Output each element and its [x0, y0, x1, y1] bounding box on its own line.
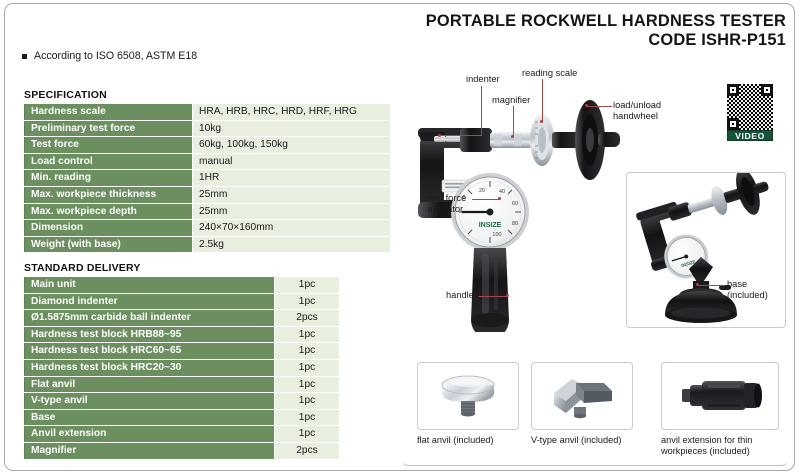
table-row: V-type anvil 1pc [25, 393, 340, 410]
indenter-part [446, 136, 462, 142]
callout-handle-label: handle [446, 290, 474, 301]
spec-value: 10kg [193, 120, 391, 137]
base-inset-panel: INSIZE base (included) [626, 172, 786, 328]
caption-line-1: anvil extension for thin [661, 435, 752, 446]
caption-line-1: V-type anvil (included) [531, 435, 621, 446]
delivery-qty: 1pc [275, 426, 340, 443]
spec-label: Load control [25, 153, 193, 170]
table-row: Magnifier 2pcs [25, 442, 340, 459]
svg-text:100: 100 [492, 232, 501, 238]
dial-brand-logo: INSIZE [479, 222, 502, 229]
table-row: Hardness test block HRC20~30 1pc [25, 359, 340, 376]
table-row: Hardness scale HRA, HRB, HRC, HRD, HRF, … [25, 104, 391, 121]
callout-base-leader [699, 285, 725, 286]
anvil-extension-drawing [662, 363, 778, 429]
specification-heading: SPECIFICATION [24, 89, 107, 101]
spec-label: Hardness scale [25, 104, 193, 121]
delivery-qty: 2pcs [275, 442, 340, 459]
delivery-qty: 1pc [275, 359, 340, 376]
callout-handle-dot [506, 294, 509, 297]
callout-handwheel-leader [588, 106, 612, 107]
spec-label: Max. workpiece thickness [25, 186, 193, 203]
handwheel-knob [598, 132, 620, 147]
table-row: Hardness test block HRC60~65 1pc [25, 343, 340, 360]
callout-base-dot [696, 283, 699, 286]
delivery-label: Ø1.5875mm carbide ball indenter [25, 310, 275, 327]
callout-indenter-label: indenter [466, 74, 500, 85]
video-qr-block[interactable]: VIDEO [727, 84, 773, 141]
table-row: Weight (with base) 2.5kg [25, 236, 391, 253]
delivery-label: V-type anvil [25, 393, 275, 410]
spec-value: manual [193, 153, 391, 170]
spec-label: Test force [25, 137, 193, 154]
caption-line-2: workpieces (included) [661, 446, 752, 457]
table-row: Min. reading 1HR [25, 170, 391, 187]
table-row: Ø1.5875mm carbide ball indenter 2pcs [25, 310, 340, 327]
delivery-qty: 1pc [275, 393, 340, 410]
callout-base-line1: base [727, 279, 768, 290]
callout-base-line2: (included) [727, 290, 768, 301]
table-row: Anvil extension 1pc [25, 426, 340, 443]
table-row: Hardness test block HRB88~95 1pc [25, 326, 340, 343]
callout-indenter-dot [438, 134, 441, 137]
delivery-qty: 2pcs [275, 310, 340, 327]
qr-code-icon[interactable] [727, 84, 773, 130]
callout-handwheel-label: load/unload handwheel [613, 100, 661, 121]
table-row: Preliminary test force 10kg [25, 120, 391, 137]
delivery-label: Hardness test block HRC20~30 [25, 359, 275, 376]
callout-indenter-leader [481, 86, 482, 136]
delivery-qty: 1pc [275, 376, 340, 393]
delivery-label: Flat anvil [25, 376, 275, 393]
table-row: Max. workpiece thickness 25mm [25, 186, 391, 203]
spec-value: 25mm [193, 186, 391, 203]
table-row: Max. workpiece depth 25mm [25, 203, 391, 220]
table-row: Flat anvil 1pc [25, 376, 340, 393]
delivery-qty: 1pc [275, 277, 340, 294]
callout-base-label: base (included) [727, 279, 768, 300]
table-row: Base 1pc [25, 409, 340, 426]
delivery-label: Base [25, 409, 275, 426]
spec-value: 2.5kg [193, 236, 391, 253]
delivery-label: Diamond indenter [25, 293, 275, 310]
table-row: Dimension 240×70×160mm [25, 220, 391, 237]
flat-anvil-drawing [418, 363, 518, 429]
flat-anvil-image [417, 362, 519, 430]
standards-text: According to ISO 6508, ASTM E18 [34, 50, 197, 62]
spec-value: 60kg, 100kg, 150kg [193, 137, 391, 154]
callout-test-force-leader [472, 199, 500, 200]
svg-text:60: 60 [512, 201, 518, 207]
qr-finder-icon [727, 118, 739, 130]
delivery-label: Hardness test block HRB88~95 [25, 326, 275, 343]
callout-indenter-leader-h [441, 135, 482, 136]
bullet-square-icon [22, 54, 27, 59]
callout-magnifier-label: magnifier [492, 95, 530, 106]
callout-test-force-line1: test force [428, 193, 466, 204]
delivery-label: Main unit [25, 277, 275, 294]
table-row: Load control manual [25, 153, 391, 170]
v-type-anvil-drawing [532, 363, 632, 429]
caption-line-1: flat anvil (included) [417, 435, 494, 446]
title-line-1: PORTABLE ROCKWELL HARDNESS TESTER [286, 12, 786, 31]
flat-anvil-caption: flat anvil (included) [417, 435, 494, 446]
anvil-extension-caption: anvil extension for thin workpieces (inc… [661, 435, 752, 457]
delivery-qty: 1pc [275, 343, 340, 360]
callout-reading-scale-dot [540, 120, 543, 123]
delivery-label: Anvil extension [25, 426, 275, 443]
spindle-housing [460, 128, 492, 152]
spec-label: Dimension [25, 220, 193, 237]
delivery-qty: 1pc [275, 409, 340, 426]
callout-handwheel-dot [585, 104, 588, 107]
callout-magnifier-leader [513, 106, 514, 136]
v-type-anvil-caption: V-type anvil (included) [531, 435, 621, 446]
svg-text:40: 40 [499, 189, 505, 195]
callout-test-force-line2: indicator [428, 204, 466, 215]
callout-handle-leader [478, 296, 508, 297]
delivery-label: Hardness test block HRC60~65 [25, 343, 275, 360]
callout-reading-scale-label: reading scale [522, 68, 577, 79]
callout-test-force-label: test force indicator [428, 193, 466, 214]
callout-handwheel-line1: load/unload [613, 100, 661, 111]
qr-finder-icon [761, 84, 773, 96]
spec-value: HRA, HRB, HRC, HRD, HRF, HRG [193, 104, 391, 121]
v-type-anvil-image [531, 362, 633, 430]
delivery-qty: 1pc [275, 326, 340, 343]
callout-magnifier-dot [511, 135, 514, 138]
title-line-2: CODE ISHR-P151 [286, 31, 786, 50]
table-row: Diamond indenter 1pc [25, 293, 340, 310]
qr-finder-icon [727, 84, 739, 96]
spec-label: Preliminary test force [25, 120, 193, 137]
spec-label: Weight (with base) [25, 236, 193, 253]
spec-label: Max. workpiece depth [25, 203, 193, 220]
video-badge[interactable]: VIDEO [727, 130, 773, 141]
base-assembly-drawing: INSIZE [627, 173, 785, 327]
specification-table: Hardness scale HRA, HRB, HRC, HRD, HRF, … [24, 103, 391, 253]
datasheet-page: PORTABLE ROCKWELL HARDNESS TESTER CODE I… [0, 0, 800, 474]
spec-label: Min. reading [25, 170, 193, 187]
table-row: Main unit 1pc [25, 277, 340, 294]
standard-delivery-table: Main unit 1pc Diamond indenter 1pc Ø1.58… [24, 276, 340, 460]
callout-test-force-dot [498, 197, 501, 200]
delivery-label: Magnifier [25, 442, 275, 459]
svg-text:80: 80 [512, 221, 518, 227]
callout-reading-scale-leader [542, 79, 543, 121]
table-row: Test force 60kg, 100kg, 150kg [25, 137, 391, 154]
spec-value: 240×70×160mm [193, 220, 391, 237]
delivery-qty: 1pc [275, 293, 340, 310]
spec-value: 1HR [193, 170, 391, 187]
spec-value: 25mm [193, 203, 391, 220]
svg-text:20: 20 [479, 188, 485, 194]
anvil-extension-image [661, 362, 779, 430]
standard-delivery-heading: STANDARD DELIVERY [24, 262, 141, 274]
callout-handwheel-line2: handwheel [613, 111, 661, 122]
page-title: PORTABLE ROCKWELL HARDNESS TESTER CODE I… [286, 12, 786, 50]
standards-bullet: According to ISO 6508, ASTM E18 [22, 50, 197, 62]
